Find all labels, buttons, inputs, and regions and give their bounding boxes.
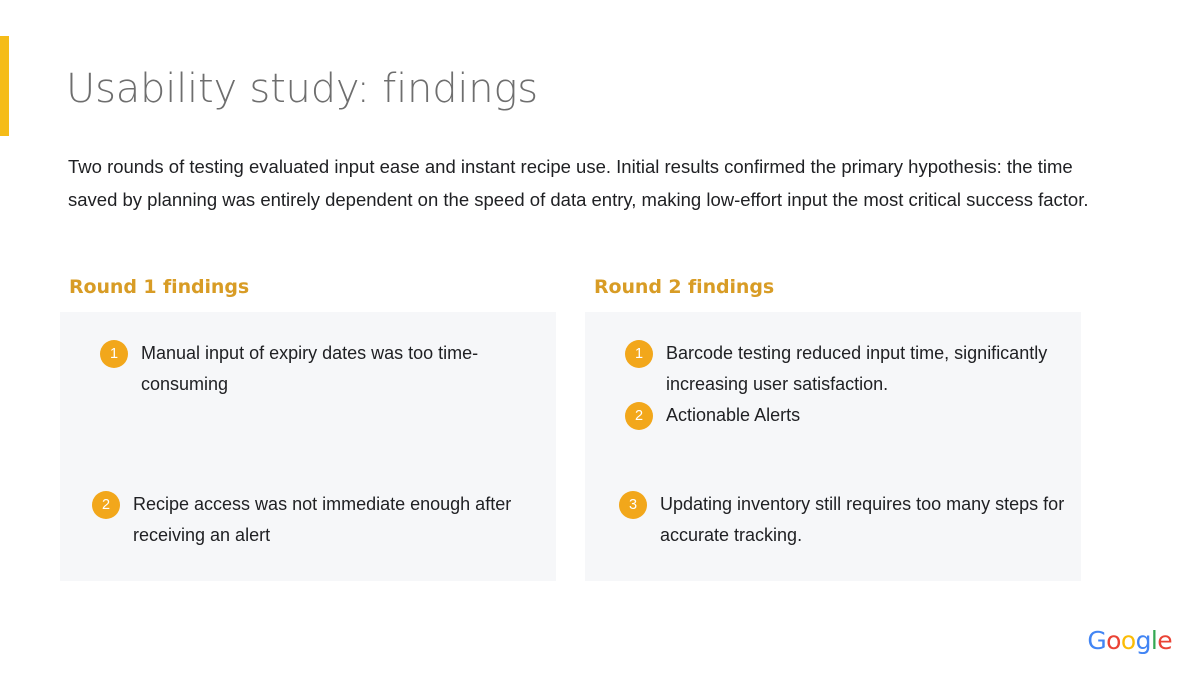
list-item: 3 Updating inventory still requires too … [619, 489, 1067, 551]
column-heading-round-2: Round 2 findings [594, 276, 1081, 298]
finding-text: Recipe access was not immediate enough a… [133, 489, 542, 551]
list-item: 1 Barcode testing reduced input time, si… [625, 338, 1067, 400]
google-logo-letter: G [1087, 626, 1106, 655]
slide: Usability study: findings Two rounds of … [0, 0, 1200, 675]
google-logo-letter: o [1106, 626, 1121, 655]
finding-number-badge: 2 [92, 491, 120, 519]
finding-text: Barcode testing reduced input time, sign… [666, 338, 1067, 400]
findings-card-round-2: 1 Barcode testing reduced input time, si… [585, 312, 1081, 581]
finding-number-badge: 1 [100, 340, 128, 368]
list-item: 2 Recipe access was not immediate enough… [92, 489, 542, 551]
google-logo: Google [1087, 628, 1172, 653]
accent-bar [0, 36, 9, 136]
finding-text: Actionable Alerts [666, 400, 800, 431]
finding-text: Updating inventory still requires too ma… [660, 489, 1067, 551]
finding-number-badge: 1 [625, 340, 653, 368]
list-item: 1 Manual input of expiry dates was too t… [100, 338, 542, 400]
findings-card-round-1: 1 Manual input of expiry dates was too t… [60, 312, 556, 581]
column-heading-round-1: Round 1 findings [69, 276, 556, 298]
google-logo-letter: o [1121, 626, 1136, 655]
list-item: 2 Actionable Alerts [625, 400, 1067, 431]
finding-number-badge: 3 [619, 491, 647, 519]
intro-paragraph: Two rounds of testing evaluated input ea… [68, 150, 1098, 216]
google-logo-letter: e [1157, 626, 1172, 655]
findings-columns: Round 1 findings 1 Manual input of expir… [60, 276, 1085, 581]
findings-group-top: 1 Barcode testing reduced input time, si… [599, 338, 1067, 431]
page-title: Usability study: findings [66, 66, 538, 112]
column-round-1: Round 1 findings 1 Manual input of expir… [60, 276, 556, 581]
google-logo-letter: g [1136, 626, 1151, 655]
column-round-2: Round 2 findings 1 Barcode testing reduc… [585, 276, 1081, 581]
finding-number-badge: 2 [625, 402, 653, 430]
finding-text: Manual input of expiry dates was too tim… [141, 338, 542, 400]
